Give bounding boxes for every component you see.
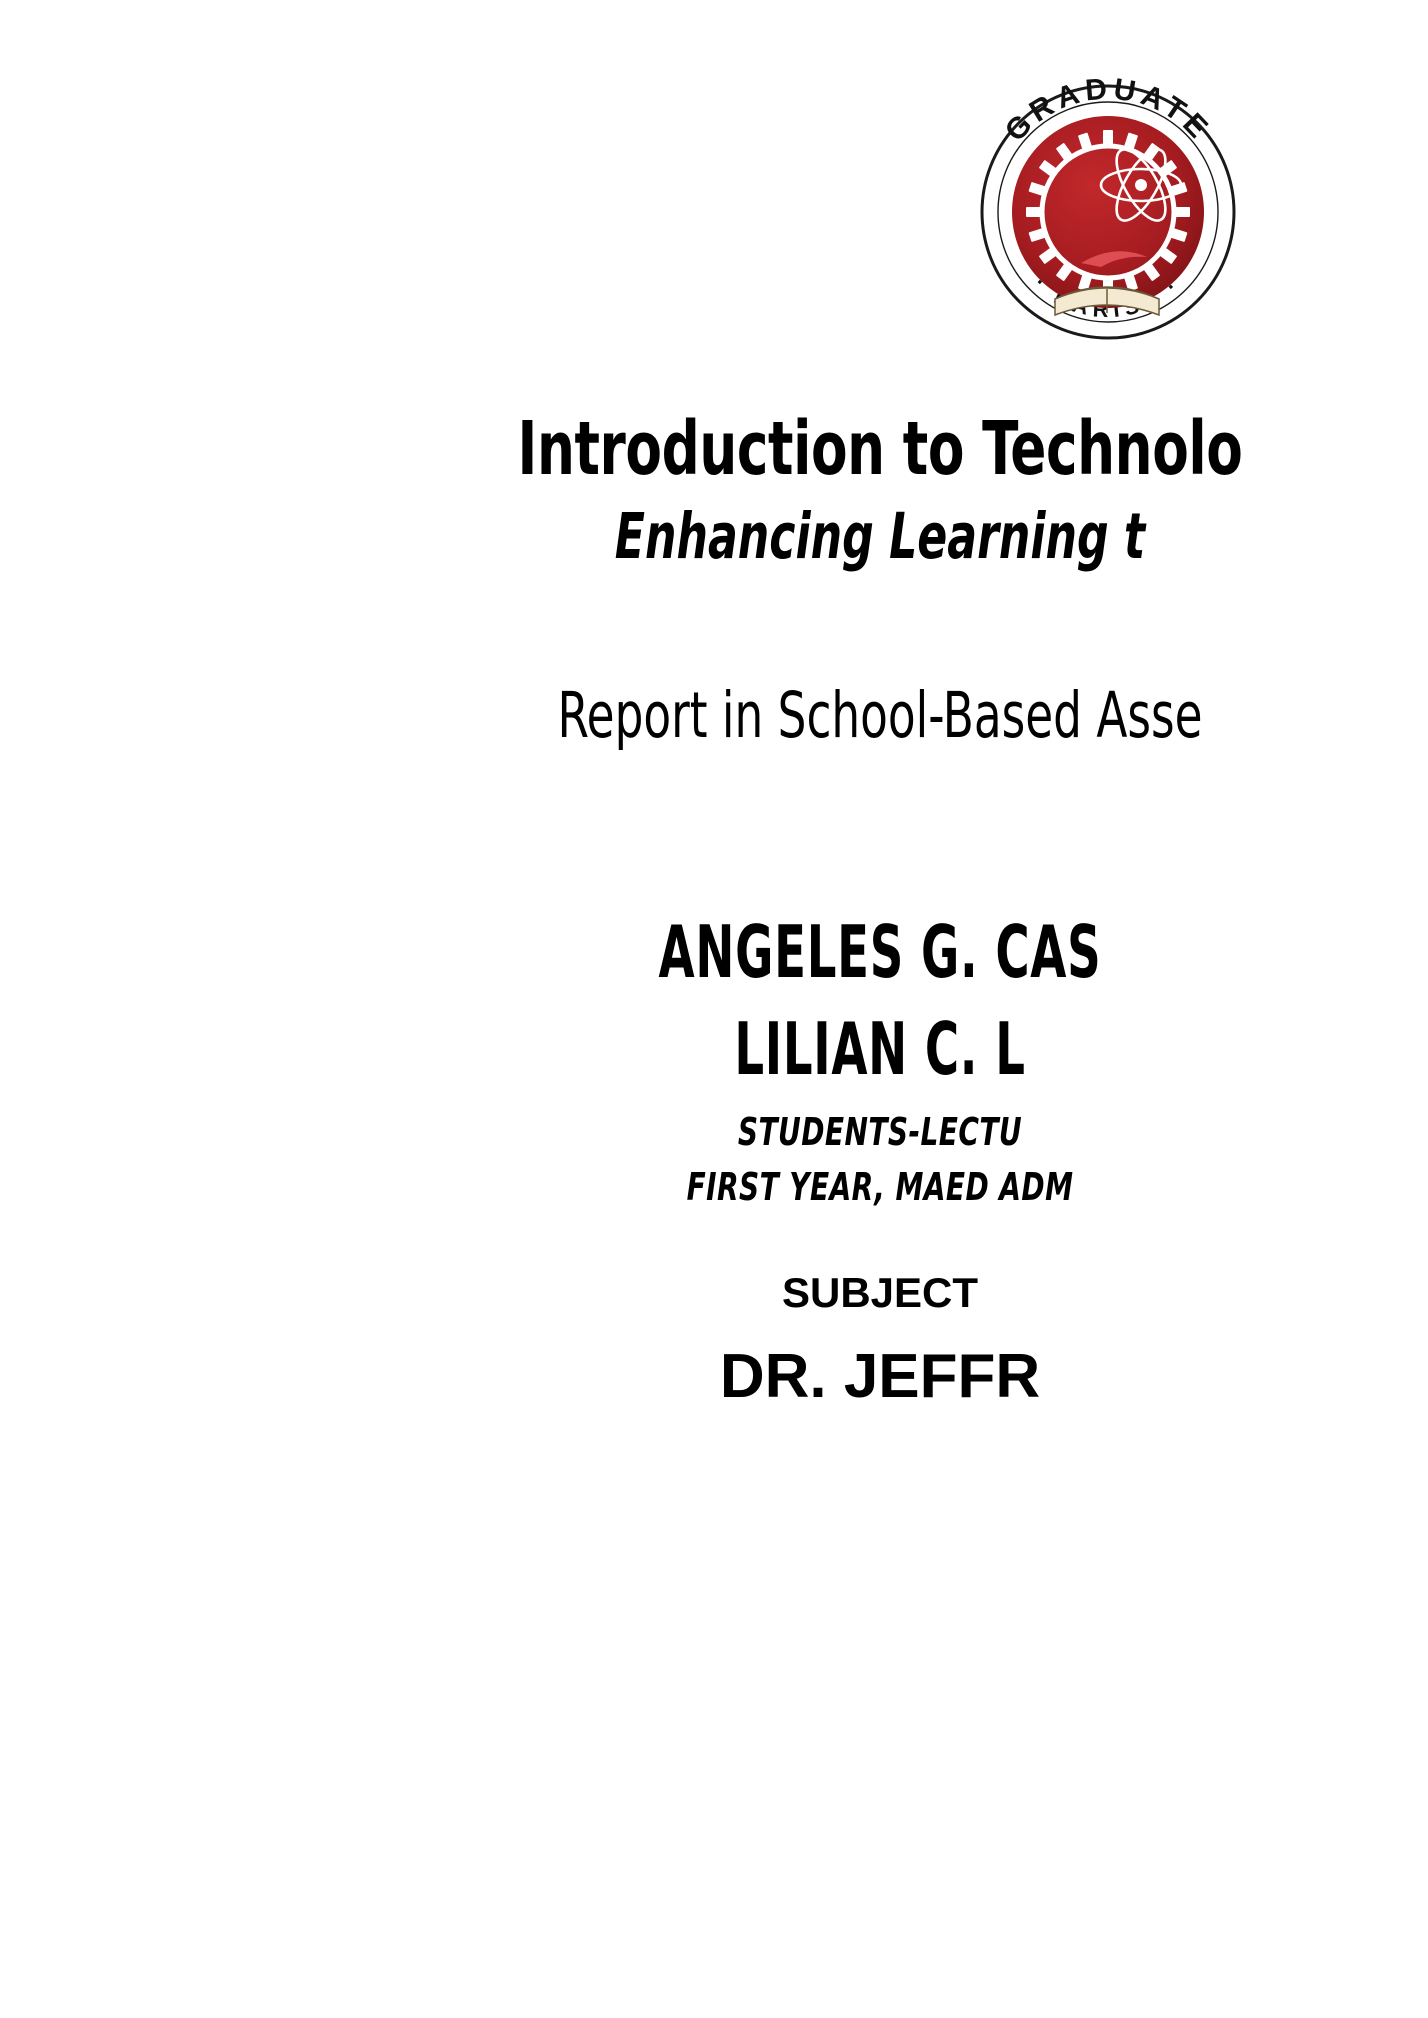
author-program-line: FIRST YEAR, MAED ADM: [158, 1168, 1428, 1206]
slide-text-content: Introduction to Technolo Enhancing Learn…: [0, 0, 1428, 2018]
author-name-2: LILIAN C. L: [246, 1013, 1428, 1085]
subject-label: SUBJECT: [0, 1272, 1428, 1314]
slide-page: GRADUATE · EARIST ·: [0, 0, 1428, 2018]
author-role-line: STUDENTS-LECTU: [158, 1113, 1428, 1151]
page-title: Introduction to Technolo: [176, 412, 1428, 486]
report-line: Report in School-Based Asse: [176, 684, 1428, 747]
author-name-1: ANGELES G. CAS: [246, 916, 1428, 988]
page-subtitle: Enhancing Learning t: [194, 505, 1428, 568]
professor-name: DR. JEFFR: [0, 1346, 1428, 1408]
